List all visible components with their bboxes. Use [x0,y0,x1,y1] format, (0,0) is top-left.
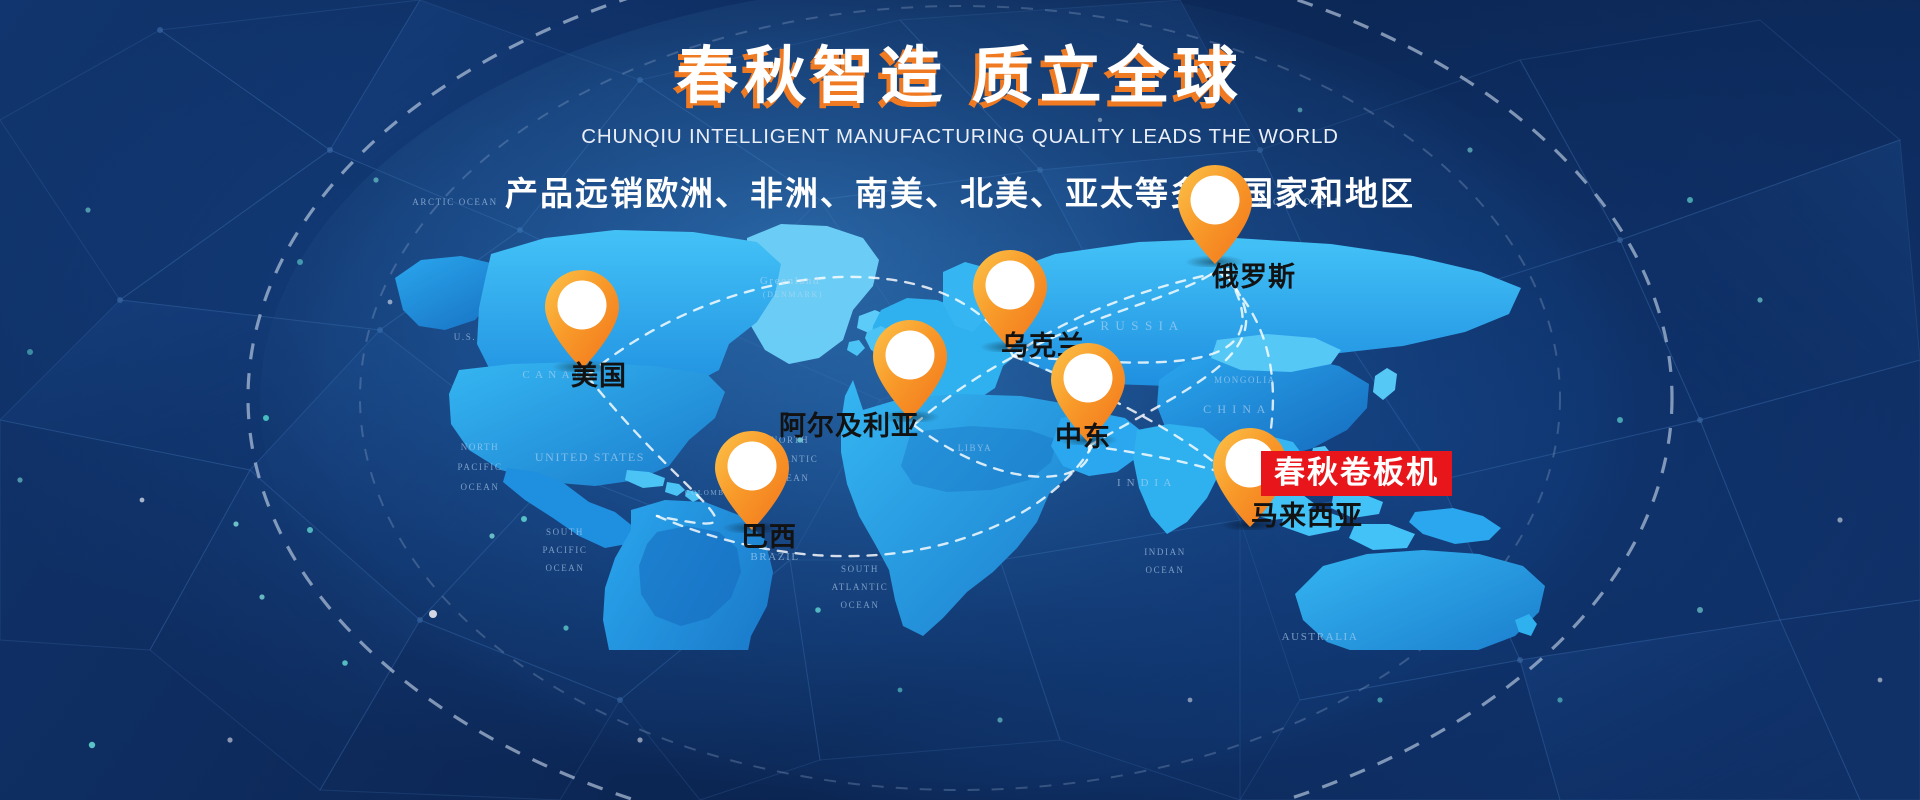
page-title-english: CHUNQIU INTELLIGENT MANUFACTURING QUALIT… [0,125,1920,149]
map-label: MONGOLIA [1214,375,1276,385]
map-marker-label: 巴西 [741,515,797,554]
map-label: Greenland [760,275,820,287]
map-label: R U S S I A [1100,318,1179,333]
map-label: UNITED STATES [535,450,645,464]
map-label: PACIFIC [458,462,503,472]
map-label: OCEAN [461,482,500,492]
map-marker-label: 阿尔及利亚 [779,404,919,443]
map-label: OCEAN [841,600,880,610]
map-marker-middleeast[interactable]: 中东 [1049,341,1127,445]
map-label: SOUTH [841,564,879,574]
map-marker-ukraine[interactable]: 乌克兰 [971,248,1049,352]
map-label: PACIFIC [543,545,588,555]
map-label: LIBYA [958,443,993,453]
location-pin-icon [1176,163,1254,267]
map-marker-usa[interactable]: 美国 [543,268,621,372]
map-label: OCEAN [546,563,585,573]
map-marker-algeria[interactable]: 阿尔及利亚 [871,318,949,422]
map-marker-label: 俄罗斯 [1212,255,1296,294]
map-marker-brazil[interactable]: 巴西 [713,429,791,533]
map-label: AUSTRALIA [1282,631,1359,643]
world-map: ARCTIC OCEANARCTIC OCEANGreenland(DENMAR… [395,180,1545,650]
map-label: INDIAN [1144,547,1186,557]
map-marker-label: 马来西亚 [1251,494,1363,533]
map-marker-russia[interactable]: 俄罗斯 [1176,163,1254,267]
brand-badge[interactable]: 春秋卷板机 [1261,451,1452,496]
headline-block: 春秋智造 质立全球 CHUNQIU INTELLIGENT MANUFACTUR… [0,42,1920,215]
page-subtitle: 产品远销欧洲、非洲、南美、北美、亚太等多个国家和地区 [0,167,1920,215]
map-label: ATLANTIC [832,582,889,592]
map-label: SOUTH [546,527,584,537]
promo-banner: ARCTIC OCEANARCTIC OCEANGreenland(DENMAR… [0,0,1920,800]
map-label: I N D I A [1117,477,1173,489]
map-label: U.S. [454,332,476,342]
map-marker-label: 美国 [571,354,627,393]
map-marker-label: 中东 [1055,415,1111,454]
map-label: NORTH [461,442,499,452]
map-label: (DENMARK) [763,290,823,299]
map-label: C H I N A [1203,402,1267,416]
page-title: 春秋智造 质立全球 [0,42,1920,111]
map-label: OCEAN [1146,565,1185,575]
